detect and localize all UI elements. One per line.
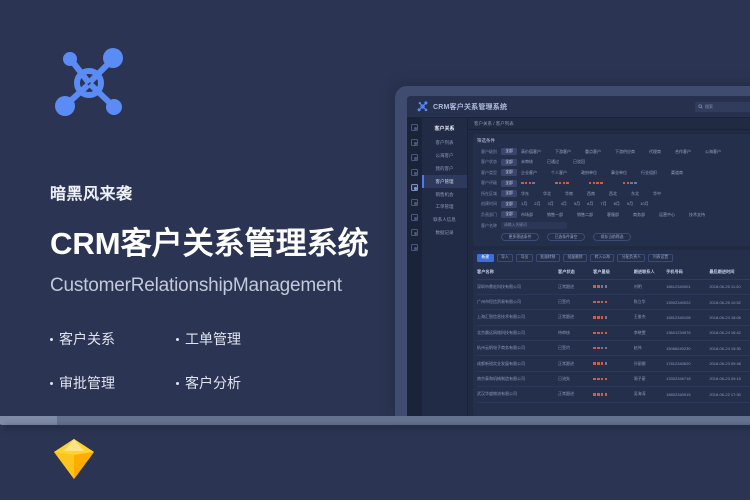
filter-option[interactable]: 8月 (614, 201, 620, 207)
filter-all-chip[interactable]: 全部 (501, 180, 517, 187)
filter-row-4: 所在区域 全部 华东 华北 华南 西南 西北 东北 华中 (477, 189, 750, 198)
table-header-row: 客户名称 客户状态 客户星级 跟进联系人 手机号码 最后跟进时间 (477, 266, 750, 280)
sidebar-item-1[interactable]: 公海客户 (422, 150, 467, 163)
main-content: 客户关系 / 客户列表 筛选条件 客户级别 全部 高价值客户 下游客户 重点客户… (468, 118, 750, 416)
filter-option[interactable]: 下游客户 (555, 149, 571, 155)
laptop-base (15, 416, 750, 425)
bullet-dot (176, 382, 179, 385)
search-input[interactable]: 请输入关键词 (501, 222, 567, 229)
filter-option[interactable]: 4月 (561, 201, 567, 207)
laptop-lid: CRM客户关系管理系统 搜索 (395, 86, 750, 416)
filter-all-chip[interactable]: 全部 (501, 159, 517, 166)
cell-phone: 18612340001 (666, 279, 709, 294)
icon-rail (407, 118, 422, 416)
cell-rating (593, 325, 634, 340)
cell-status: 待审核 (558, 325, 593, 340)
cell-phone: 18802340915 (666, 387, 709, 402)
column-header-phone[interactable]: 手机号码 (666, 266, 709, 280)
customer-table: 客户名称 客户状态 客户星级 跟进联系人 手机号码 最后跟进时间 (477, 266, 750, 403)
cell-phone: 15812340108 (666, 310, 709, 325)
filter-actions: 更多筛选条件 已选条件清空 保存当前筛选 (477, 233, 750, 241)
table-row[interactable]: 成都新锐实业发展有限公司 正常跟进 孙丽娜 17812340620 2018-0… (477, 356, 750, 371)
table-row[interactable]: 上海汇智信息技术有限公司 正常跟进 王俊杰 15812340108 2018-0… (477, 310, 750, 325)
cell-status: 正常跟进 (558, 279, 593, 294)
cell-time: 2018-06-23 09:48 (709, 356, 750, 371)
column-settings-button[interactable]: 列表设置 (648, 254, 672, 262)
table-row[interactable]: 深圳市鼎宏科技有限公司 正常跟进 刘明 18612340001 2018-06-… (477, 279, 750, 294)
filter-option[interactable]: 华东 (521, 191, 529, 197)
cell-status: 已签约 (558, 341, 593, 356)
table-row[interactable]: 南京泰和机械制造有限公司 已流失 周子豪 13302346718 2018-06… (477, 371, 750, 386)
cell-name: 南京泰和机械制造有限公司 (477, 371, 558, 386)
new-button[interactable]: 新建 (477, 254, 494, 262)
filter-panel: 筛选条件 客户级别 全部 高价值客户 下游客户 重点客户 下游供应商 代理商 合… (473, 134, 750, 246)
cell-name: 广州市恒信贸易有限公司 (477, 294, 558, 309)
table-row[interactable]: 广州市恒信贸易有限公司 已签约 陈立华 13902340022 2018-06-… (477, 294, 750, 309)
sketch-diamond-icon (50, 437, 98, 481)
cell-name: 深圳市鼎宏科技有限公司 (477, 279, 558, 294)
filter-option[interactable]: 9月 (627, 201, 633, 207)
cell-time: 2018-06-22 17:30 (709, 387, 750, 402)
cell-time: 2018-06-25 10:52 (709, 294, 750, 309)
sidebar-item-3[interactable]: 客户管理 (422, 175, 467, 188)
cell-time: 2018-06-24 18:06 (709, 310, 750, 325)
filter-option[interactable]: 华中 (653, 191, 661, 197)
filter-option[interactable]: 销售一部 (547, 212, 563, 218)
list-item: 工单管理 (176, 329, 302, 349)
cell-rating (593, 310, 634, 325)
feature-label: 审批管理 (59, 373, 115, 393)
cell-time: 2018-06-24 16:42 (709, 325, 750, 340)
filter-option[interactable]: 3月 (547, 201, 553, 207)
sidebar-item-5[interactable]: 工单管理 (422, 201, 467, 214)
filter-option[interactable]: 技术支持 (689, 212, 705, 218)
cell-person: 孙丽娜 (634, 356, 666, 371)
filter-option[interactable]: 西南 (587, 191, 595, 197)
filter-option[interactable]: 行业组织 (641, 170, 657, 176)
assign-owner-button[interactable]: 分配负责人 (617, 254, 645, 262)
sidebar-menu: 客户关系 客户列表 公海客户 我的客户 客户管理 销售机会 工单管理 联系人信息… (422, 118, 468, 416)
column-header-time[interactable]: 最后跟进时间 (709, 266, 750, 280)
filter-option[interactable]: 华北 (543, 191, 551, 197)
bullet-dot (50, 382, 53, 385)
cell-phone: 17812340620 (666, 356, 709, 371)
cell-time: 2018-06-25 11:20 (709, 279, 750, 294)
export-button[interactable]: 导出 (516, 254, 533, 262)
ticket-icon[interactable] (411, 214, 418, 221)
column-header-name[interactable]: 客户名称 (477, 266, 558, 280)
filter-option[interactable]: 个人客户 (551, 170, 567, 176)
filter-options: 市场部 销售一部 销售二部 客服部 商务部 运营中心 技术支持 (521, 212, 705, 218)
page-subtitle: CustomerRelationshipManagement (50, 275, 400, 297)
table-toolbar: 新建 导入 导出 批量转移 批量删除 转入公海 分配负责人 列表设置 (477, 254, 750, 262)
star-rating[interactable] (555, 182, 569, 185)
filter-option[interactable]: 运营中心 (659, 212, 675, 218)
filter-option[interactable]: 5月 (574, 201, 580, 207)
network-nodes-icon (417, 101, 428, 112)
list-icon[interactable] (411, 169, 418, 176)
sidebar-item-6[interactable]: 联系人信息 (422, 214, 467, 227)
bullet-dot (176, 338, 179, 341)
filter-options: 企业客户 个人客户 政府单位 事业单位 行业组织 渠道商 (521, 170, 683, 176)
filter-option[interactable]: 政府单位 (581, 170, 597, 176)
cell-rating (593, 387, 634, 402)
app-title: CRM客户关系管理系统 (433, 102, 507, 112)
batch-delete-button[interactable]: 批量删除 (563, 254, 587, 262)
clear-filters-button[interactable]: 已选条件清空 (547, 233, 585, 241)
filter-options: 高价值客户 下游客户 重点客户 下游供应商 代理商 合作客户 公海客户 (521, 149, 721, 155)
filter-option[interactable]: 高价值客户 (521, 149, 541, 155)
cell-time: 2018-06-24 15:30 (709, 341, 750, 356)
bullet-dot (50, 338, 53, 341)
table-body: 深圳市鼎宏科技有限公司 正常跟进 刘明 18612340001 2018-06-… (477, 279, 750, 402)
filter-option[interactable]: 事业单位 (611, 170, 627, 176)
cell-status: 正常跟进 (558, 310, 593, 325)
filter-option[interactable]: 公海客户 (705, 149, 721, 155)
cell-status: 正常跟进 (558, 356, 593, 371)
cell-time: 2018-06-23 09:15 (709, 371, 750, 386)
save-filters-button[interactable]: 保存当前筛选 (593, 233, 631, 241)
filter-option[interactable]: 10月 (640, 201, 648, 207)
filter-label: 所在区域 (477, 191, 497, 197)
filter-option[interactable]: 2月 (534, 201, 540, 207)
laptop-mockup: CRM客户关系管理系统 搜索 (395, 86, 750, 416)
cell-person: 李晓雯 (634, 325, 666, 340)
filter-row-2: 客户类型 全部 企业客户 个人客户 政府单位 事业单位 行业组织 渠道商 (477, 168, 750, 177)
filter-label: 客户状态 (477, 159, 497, 165)
cell-rating (593, 356, 634, 371)
filter-all-chip[interactable]: 全部 (501, 169, 517, 176)
sidebar-item-2[interactable]: 我的客户 (422, 163, 467, 176)
cell-phone: 15066240230 (666, 341, 709, 356)
filter-option[interactable]: 客服部 (607, 212, 619, 218)
filter-option[interactable]: 合作客户 (675, 149, 691, 155)
cell-person: 赵伟 (634, 341, 666, 356)
list-item: 审批管理 (50, 373, 176, 393)
folder-icon[interactable] (411, 184, 418, 191)
filter-option[interactable]: 已通过 (547, 159, 559, 165)
import-button[interactable]: 导入 (497, 254, 514, 262)
cell-person: 吴海涛 (634, 387, 666, 402)
column-header-status[interactable]: 客户状态 (558, 266, 593, 280)
star-rating[interactable] (521, 182, 535, 185)
home-icon[interactable] (411, 124, 418, 131)
cell-status: 正常跟进 (558, 387, 593, 402)
breadcrumb: 客户关系 / 客户列表 (468, 118, 750, 130)
column-header-person[interactable]: 跟进联系人 (634, 266, 666, 280)
feature-list: 客户关系 工单管理 审批管理 客户分析 (50, 329, 400, 393)
filter-option[interactable]: 企业客户 (521, 170, 537, 176)
cell-name: 成都新锐实业发展有限公司 (477, 356, 558, 371)
filter-label: 客户评级 (477, 180, 497, 186)
filter-option[interactable]: 西北 (609, 191, 617, 197)
filter-label: 负责部门 (477, 212, 497, 218)
filter-all-chip[interactable]: 全部 (501, 211, 517, 218)
cell-phone: 13302346718 (666, 371, 709, 386)
filter-option[interactable]: 6月 (587, 201, 593, 207)
filter-option[interactable]: 东北 (631, 191, 639, 197)
filter-label: 客户级别 (477, 149, 497, 155)
search-icon (698, 104, 703, 109)
cell-phone: 13601234576 (666, 325, 709, 340)
kicker-text: 暗黑风来袭 (50, 180, 400, 204)
cell-status: 已签约 (558, 294, 593, 309)
sidebar-item-4[interactable]: 销售机会 (422, 188, 467, 201)
filter-all-chip[interactable]: 全部 (501, 190, 517, 197)
sidebar-heading: 客户关系 (422, 123, 467, 137)
filter-row-0: 客户级别 全部 高价值客户 下游客户 重点客户 下游供应商 代理商 合作客户 公… (477, 147, 750, 156)
filter-search-row: 客户名称 请输入关键词 (477, 221, 750, 230)
header-search-box[interactable]: 搜索 (695, 102, 750, 112)
cell-rating (593, 371, 634, 386)
filter-all-chip[interactable]: 全部 (501, 201, 517, 208)
filter-all-chip[interactable]: 全部 (501, 148, 517, 155)
settings-icon[interactable] (411, 229, 418, 236)
filter-option[interactable]: 销售二部 (577, 212, 593, 218)
filter-options: 未审核 已通过 已驳回 (521, 159, 585, 165)
cell-person: 周子豪 (634, 371, 666, 386)
cell-phone: 13902340022 (666, 294, 709, 309)
filter-option[interactable]: 7月 (600, 201, 606, 207)
customer-table-card: 新建 导入 导出 批量转移 批量删除 转入公海 分配负责人 列表设置 (473, 250, 750, 416)
filter-option[interactable]: 1月 (521, 201, 527, 207)
filter-option[interactable]: 华南 (565, 191, 573, 197)
filter-title: 筛选条件 (477, 138, 750, 144)
cell-name: 北京晨远网络科技有限公司 (477, 325, 558, 340)
filter-label: 客户类型 (477, 170, 497, 176)
table-row[interactable]: 杭州云帆电子商务有限公司 已签约 赵伟 15066240230 2018-06-… (477, 341, 750, 356)
table-row[interactable]: 武汉华盛物流有限公司 正常跟进 吴海涛 18802340915 2018-06-… (477, 387, 750, 402)
filter-options: 1月 2月 3月 4月 5月 6月 7月 8月 9月 10月 (521, 201, 649, 207)
filter-option[interactable]: 市场部 (521, 212, 533, 218)
filter-option[interactable]: 下游供应商 (615, 149, 635, 155)
batch-transfer-button[interactable]: 批量转移 (536, 254, 560, 262)
cell-status: 已流失 (558, 371, 593, 386)
filter-option[interactable]: 已驳回 (573, 159, 585, 165)
users-icon[interactable] (411, 154, 418, 161)
move-to-pool-button[interactable]: 转入公海 (590, 254, 614, 262)
app-body: 客户关系 客户列表 公海客户 我的客户 客户管理 销售机会 工单管理 联系人信息… (407, 118, 750, 416)
search-input[interactable]: 搜索 (705, 104, 713, 110)
cell-name: 武汉华盛物流有限公司 (477, 387, 558, 402)
filter-option[interactable]: 未审核 (521, 159, 533, 165)
filter-options: 华东 华北 华南 西南 西北 东北 华中 (521, 191, 661, 197)
filter-row-6: 负责部门 全部 市场部 销售一部 销售二部 客服部 商务部 运营中心 技术支持 (477, 210, 750, 219)
filter-label: 客户名称 (477, 223, 497, 229)
filter-star-options (521, 182, 646, 185)
page-title: CRM客户关系管理系统 (50, 218, 400, 263)
dashboard-icon[interactable] (411, 139, 418, 146)
star-rating[interactable] (623, 182, 637, 185)
cell-person: 王俊杰 (634, 310, 666, 325)
cell-rating (593, 294, 634, 309)
filter-option[interactable]: 代理商 (649, 149, 661, 155)
app-header: CRM客户关系管理系统 搜索 (407, 96, 750, 118)
filter-option[interactable]: 重点客户 (585, 149, 601, 155)
filter-row-1: 客户状态 全部 未审核 已通过 已驳回 (477, 158, 750, 167)
feature-label: 客户关系 (59, 329, 115, 349)
screen: CRM客户关系管理系统 搜索 (407, 96, 750, 416)
cell-rating (593, 341, 634, 356)
column-header-rating[interactable]: 客户星级 (593, 266, 634, 280)
filter-row-5: 创建时间 全部 1月 2月 3月 4月 5月 6月 7月 8月 (477, 200, 750, 209)
more-filters-button[interactable]: 更多筛选条件 (501, 233, 539, 241)
list-item: 客户关系 (50, 329, 176, 349)
table-row[interactable]: 北京晨远网络科技有限公司 待审核 李晓雯 13601234576 2018-06… (477, 325, 750, 340)
cell-rating (593, 279, 634, 294)
cell-name: 杭州云帆电子商务有限公司 (477, 341, 558, 356)
list-item: 客户分析 (176, 373, 302, 393)
feature-label: 工单管理 (185, 329, 241, 349)
sidebar-item-0[interactable]: 客户列表 (422, 137, 467, 150)
filter-label: 创建时间 (477, 201, 497, 207)
cell-person: 陈立华 (634, 294, 666, 309)
profile-icon[interactable] (411, 244, 418, 251)
network-nodes-icon (50, 44, 128, 122)
sidebar-item-7[interactable]: 数据记录 (422, 226, 467, 239)
cell-person: 刘明 (634, 279, 666, 294)
laptop-shadow (5, 425, 750, 430)
star-rating[interactable] (589, 182, 603, 185)
cell-name: 上海汇智信息技术有限公司 (477, 310, 558, 325)
feature-label: 客户分析 (185, 373, 241, 393)
filter-row-3: 客户评级 全部 (477, 179, 750, 188)
filter-option[interactable]: 渠道商 (671, 170, 683, 176)
chart-icon[interactable] (411, 199, 418, 206)
filter-option[interactable]: 商务部 (633, 212, 645, 218)
